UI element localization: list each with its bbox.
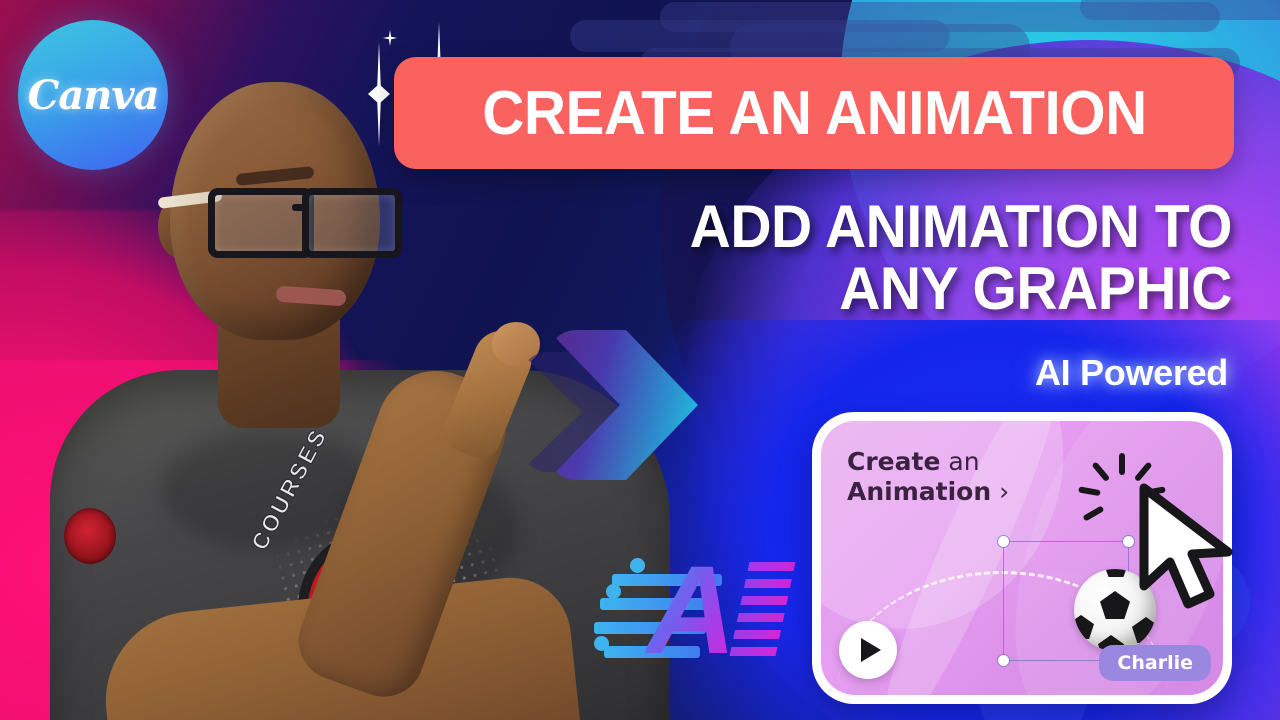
ai-logo: A	[590, 540, 810, 700]
card-title-bold: Create	[847, 447, 940, 476]
sleeve-patch	[64, 508, 116, 564]
card-title-rest: an	[940, 447, 979, 476]
ai-powered-badge: AI Powered	[1035, 352, 1228, 394]
headline-banner: CREATE AN ANIMATION	[394, 57, 1234, 169]
glasses-icon	[162, 180, 402, 250]
ai-logo-stripes	[727, 562, 796, 670]
selection-handle[interactable]	[998, 536, 1009, 547]
subheadline-line-2: ANY GRAPHIC	[529, 258, 1232, 320]
chevron-right-icon: ›	[999, 477, 1009, 506]
thumbnail-canvas: Canva COURSES	[0, 0, 1280, 720]
card-title: Create an Animation ›	[847, 447, 1009, 507]
play-button[interactable]	[839, 621, 897, 679]
selection-handle[interactable]	[998, 655, 1009, 666]
canva-logo-text: Canva	[28, 72, 159, 119]
ai-logo-letter: A	[646, 548, 730, 673]
subheadline: ADD ANIMATION TO ANY GRAPHIC	[529, 196, 1232, 320]
play-icon	[861, 638, 881, 662]
subheadline-line-1: ADD ANIMATION TO	[529, 196, 1232, 258]
mouse-cursor-icon	[1134, 482, 1252, 614]
headline-banner-text: CREATE AN ANIMATION	[482, 78, 1146, 149]
canva-logo-badge: Canva	[18, 20, 168, 170]
card-title-line2: Animation	[847, 477, 991, 506]
element-name-badge[interactable]: Charlie	[1099, 645, 1211, 681]
